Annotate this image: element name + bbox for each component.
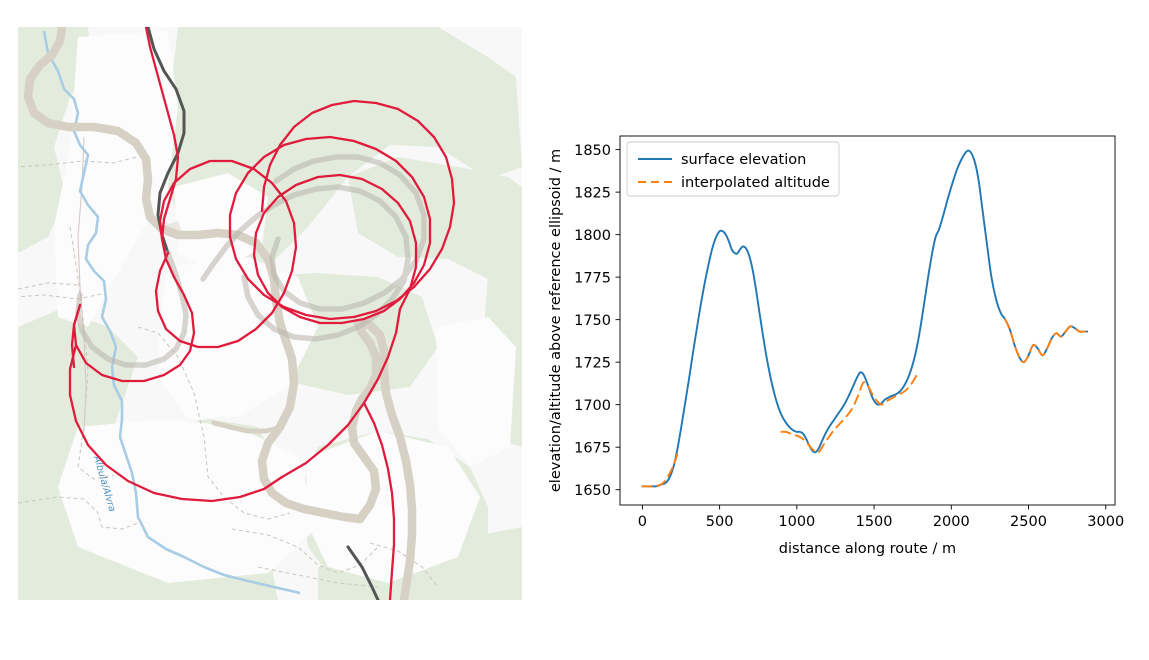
elevation-chart-panel[interactable]: 050010001500200025003000 165016751700172…	[540, 110, 1140, 580]
y-tick-label: 1700	[574, 398, 611, 414]
map-panel[interactable]: Albula/Alvra	[18, 27, 522, 600]
series-1-segment	[1005, 320, 1087, 363]
y-tick-label: 1750	[574, 313, 611, 329]
legend-label-1: interpolated altitude	[681, 175, 830, 191]
x-tick-label: 3000	[1087, 514, 1124, 530]
series-0-line	[642, 151, 1087, 487]
x-tick-label: 2500	[1010, 514, 1047, 530]
legend-label-0: surface elevation	[681, 152, 806, 168]
y-axis-ticks: 165016751700172517501775180018251850	[574, 143, 620, 499]
x-tick-label: 1500	[856, 514, 893, 530]
chart-legend[interactable]: surface elevationinterpolated altitude	[627, 142, 839, 196]
x-axis-title: distance along route / m	[779, 541, 956, 557]
series-1-segment	[642, 452, 678, 486]
y-tick-label: 1775	[574, 270, 611, 286]
y-tick-label: 1725	[574, 355, 611, 371]
series-layer	[642, 151, 1087, 487]
y-tick-label: 1800	[574, 228, 611, 244]
x-tick-label: 500	[706, 514, 734, 530]
x-tick-label: 2000	[933, 514, 970, 530]
series-1-segment	[781, 374, 917, 452]
y-tick-label: 1850	[574, 143, 611, 159]
y-axis-title: elevation/altitude above reference ellip…	[548, 149, 564, 492]
x-tick-label: 1000	[778, 514, 815, 530]
y-tick-label: 1650	[574, 483, 611, 499]
y-tick-label: 1675	[574, 440, 611, 456]
x-tick-label: 0	[638, 514, 647, 530]
x-axis-ticks: 050010001500200025003000	[638, 505, 1124, 530]
y-tick-label: 1825	[574, 185, 611, 201]
elevation-chart[interactable]: 050010001500200025003000 165016751700172…	[540, 110, 1140, 580]
map-canvas[interactable]: Albula/Alvra	[18, 27, 522, 600]
